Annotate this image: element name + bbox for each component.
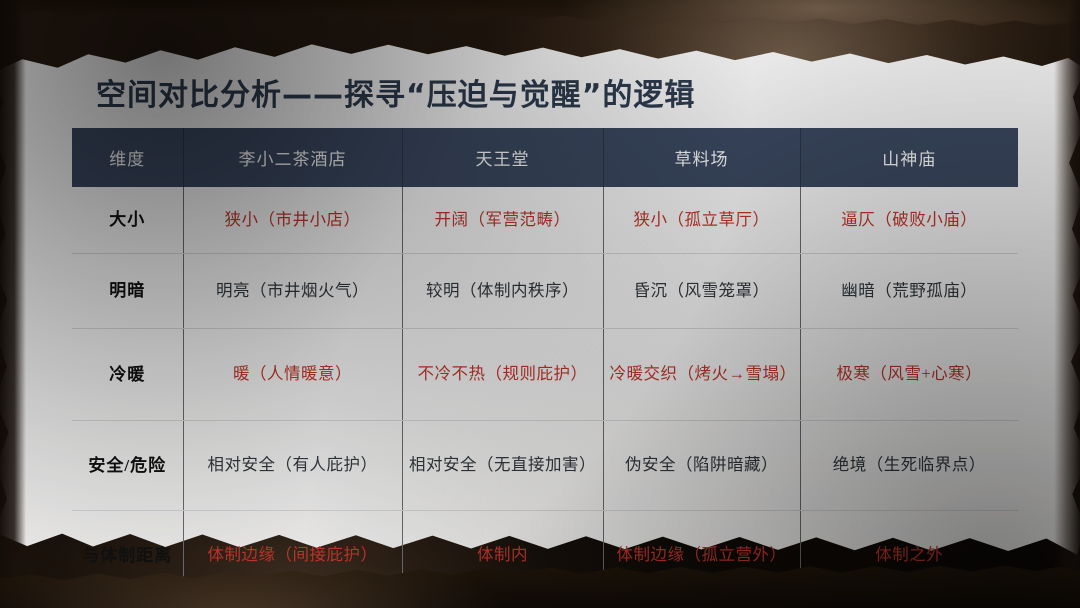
cell-temperature-lixiaoer: 暖（人情暖意） <box>183 329 402 421</box>
cell-system-distance-caoliaochang: 体制边缘（孤立营外） <box>603 511 800 601</box>
slide-canvas: 空间对比分析——探寻“压迫与觉醒”的逻辑 维度 李小二茶酒店 天王堂 草料场 山… <box>0 0 1080 608</box>
row-label-safety: 安全/危险 <box>72 421 183 511</box>
cell-human-warmth-tianwangtang <box>402 601 603 608</box>
cell-system-distance-tianwangtang: 体制内 <box>402 511 603 601</box>
table-row: 大小 狭小（市井小店） 开阔（军营范畴） 狭小（孤立草厅） 逼仄（破败小庙） <box>72 187 1018 254</box>
cell-size-caoliaochang: 狭小（孤立草厅） <box>603 187 800 254</box>
cell-temperature-tianwangtang: 不冷不热（规则庇护） <box>402 329 603 421</box>
row-label-size: 大小 <box>72 187 183 254</box>
cell-brightness-tianwangtang: 较明（体制内秩序） <box>402 254 603 329</box>
slide-content: 空间对比分析——探寻“压迫与觉醒”的逻辑 维度 李小二茶酒店 天王堂 草料场 山… <box>0 0 1080 608</box>
cell-brightness-shanshenmiao: 幽暗（荒野孤庙） <box>800 254 1018 329</box>
cell-human-warmth-caoliaochang <box>603 601 800 608</box>
row-label-system-distance: 与体制距离 <box>72 511 183 601</box>
table-header-row: 维度 李小二茶酒店 天王堂 草料场 山神庙 <box>72 128 1018 187</box>
cell-brightness-lixiaoer: 明亮（市井烟火气） <box>183 254 402 329</box>
cell-size-lixiaoer: 狭小（市井小店） <box>183 187 402 254</box>
table-row: 安全/危险 相对安全（有人庇护） 相对安全（无直接加害） 伪安全（陷阱暗藏） 绝… <box>72 421 1018 511</box>
cell-human-warmth-shanshenmiao <box>800 601 1018 608</box>
page-title: 空间对比分析——探寻“压迫与觉醒”的逻辑 <box>96 70 695 114</box>
row-label-temperature: 冷暖 <box>72 329 183 421</box>
table-row: 明暗 明亮（市井烟火气） 较明（体制内秩序） 昏沉（风雪笼罩） 幽暗（荒野孤庙） <box>72 254 1018 329</box>
table-header: 维度 李小二茶酒店 天王堂 草料场 山神庙 <box>72 128 1018 187</box>
cell-system-distance-lixiaoer: 体制边缘（间接庇护） <box>183 511 402 601</box>
table-row: 人情浓度 <box>72 601 1018 608</box>
table-row: 冷暖 暖（人情暖意） 不冷不热（规则庇护） 冷暖交织（烤火→雪塌） 极寒（风雪+… <box>72 329 1018 421</box>
cell-size-tianwangtang: 开阔（军营范畴） <box>402 187 603 254</box>
row-label-brightness: 明暗 <box>72 254 183 329</box>
cell-safety-caoliaochang: 伪安全（陷阱暗藏） <box>603 421 800 511</box>
cell-system-distance-shanshenmiao: 体制之外 <box>800 511 1018 601</box>
table-body: 大小 狭小（市井小店） 开阔（军营范畴） 狭小（孤立草厅） 逼仄（破败小庙） 明… <box>72 187 1018 608</box>
column-header-tianwangtang: 天王堂 <box>402 128 603 187</box>
column-header-dimension: 维度 <box>72 128 183 187</box>
column-header-lixiaoer: 李小二茶酒店 <box>183 128 402 187</box>
cell-temperature-shanshenmiao: 极寒（风雪+心寒） <box>800 329 1018 421</box>
cell-safety-tianwangtang: 相对安全（无直接加害） <box>402 421 603 511</box>
column-header-shanshenmiao: 山神庙 <box>800 128 1018 187</box>
cell-safety-shanshenmiao: 绝境（生死临界点） <box>800 421 1018 511</box>
comparison-table: 维度 李小二茶酒店 天王堂 草料场 山神庙 大小 狭小（市井小店） 开阔（军营范… <box>72 128 1018 608</box>
cell-brightness-caoliaochang: 昏沉（风雪笼罩） <box>603 254 800 329</box>
cell-human-warmth-lixiaoer <box>183 601 402 608</box>
column-header-caoliaochang: 草料场 <box>603 128 800 187</box>
table-row: 与体制距离 体制边缘（间接庇护） 体制内 体制边缘（孤立营外） 体制之外 <box>72 511 1018 601</box>
comparison-table-wrapper: 维度 李小二茶酒店 天王堂 草料场 山神庙 大小 狭小（市井小店） 开阔（军营范… <box>72 128 1018 608</box>
cell-safety-lixiaoer: 相对安全（有人庇护） <box>183 421 402 511</box>
row-label-human-warmth: 人情浓度 <box>72 601 183 608</box>
cell-size-shanshenmiao: 逼仄（破败小庙） <box>800 187 1018 254</box>
cell-temperature-caoliaochang: 冷暖交织（烤火→雪塌） <box>603 329 800 421</box>
